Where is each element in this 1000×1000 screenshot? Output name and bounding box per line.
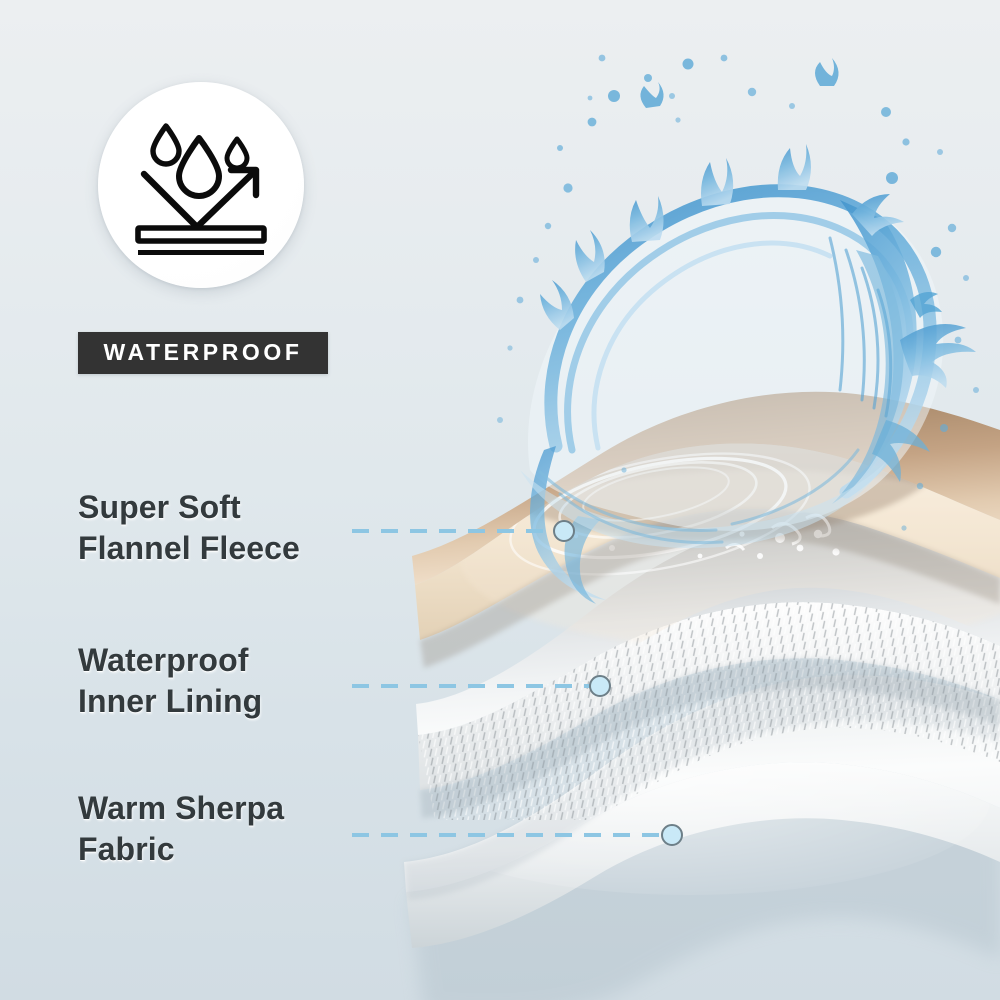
waterproof-badge-label: WATERPROOF — [78, 332, 328, 374]
waterproof-badge: WATERPROOF — [72, 82, 334, 374]
callout-dot-flannel-fleece — [553, 520, 575, 542]
feature-label-flannel-fleece: Super Soft Flannel Fleece — [78, 487, 300, 568]
callout-dot-waterproof-lining — [589, 675, 611, 697]
infographic-canvas: WATERPROOF Super Soft Flannel Fleece Wat… — [0, 0, 1000, 1000]
waterproof-repel-icon — [126, 110, 276, 260]
feature-label-warm-sherpa: Warm Sherpa Fabric — [78, 788, 284, 869]
surface-underline-icon — [138, 250, 264, 255]
leader-line-waterproof-lining — [352, 684, 602, 688]
badge-icon-circle — [98, 82, 304, 288]
leader-line-warm-sherpa — [352, 833, 674, 837]
callout-dot-warm-sherpa — [661, 824, 683, 846]
leader-line-flannel-fleece — [352, 529, 566, 533]
surface-bar-icon — [138, 228, 264, 241]
feature-label-waterproof-lining: Waterproof Inner Lining — [78, 640, 262, 721]
